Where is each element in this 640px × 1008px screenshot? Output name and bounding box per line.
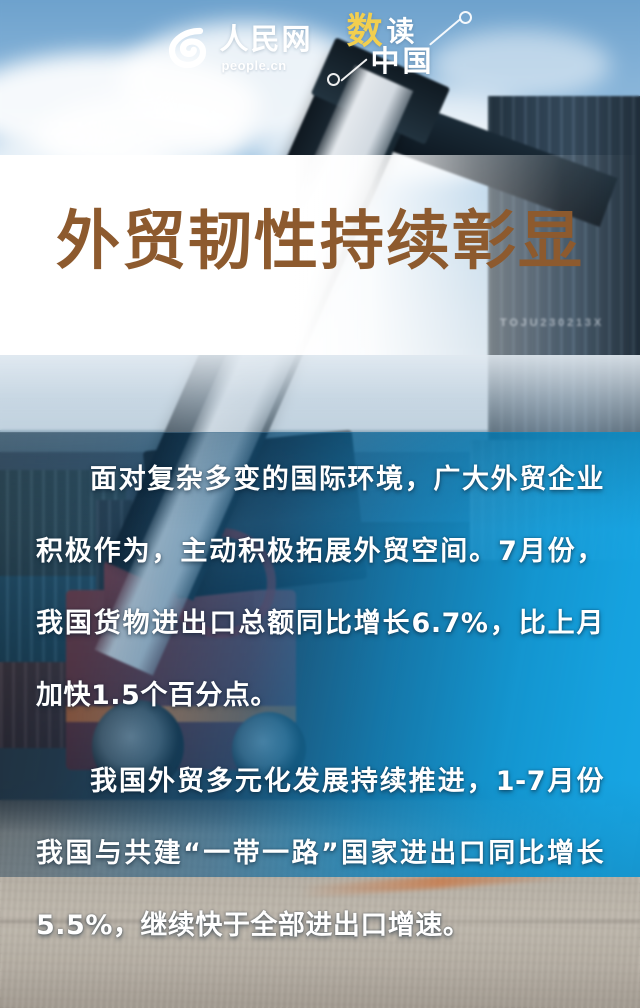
people-daily-wordmark: 人民网 people.cn — [219, 25, 312, 72]
people-daily-logo[interactable]: 人民网 people.cn — [166, 25, 312, 72]
decoration-line-icon — [340, 58, 367, 81]
paragraph: 我国外贸多元化发展持续推进，1-7月份我国与共建“一带一路”国家进出口同比增长5… — [36, 746, 604, 962]
people-daily-crescent-icon — [166, 26, 210, 70]
shudu-zhongguo-logo[interactable]: 数 读 中 国 — [339, 11, 474, 85]
band-haze-transition — [0, 355, 640, 433]
shudu-char-guo: 国 — [403, 47, 435, 76]
decoration-dot-icon — [327, 73, 340, 86]
paragraph: 面对复杂多变的国际环境，广大外贸企业积极作为，主动积极拓展外贸空间。7月份，我国… — [36, 444, 604, 732]
article-body: 面对复杂多变的国际环境，广大外贸企业积极作为，主动积极拓展外贸空间。7月份，我国… — [36, 444, 604, 962]
decoration-dot-icon — [459, 11, 472, 24]
decoration-line-icon — [429, 18, 461, 45]
people-daily-latin-name: people.cn — [221, 59, 286, 72]
shudu-logo-line-2: 中 国 — [371, 47, 435, 76]
infographic-poster: TOJU230213X GIM — [0, 0, 640, 1008]
people-daily-cn-name: 人民网 — [219, 25, 312, 54]
page-title: 外贸韧性持续彰显 — [0, 208, 640, 275]
poster-header: 人民网 people.cn 数 读 中 国 — [0, 0, 640, 96]
shudu-char-zhong: 中 — [371, 47, 403, 76]
